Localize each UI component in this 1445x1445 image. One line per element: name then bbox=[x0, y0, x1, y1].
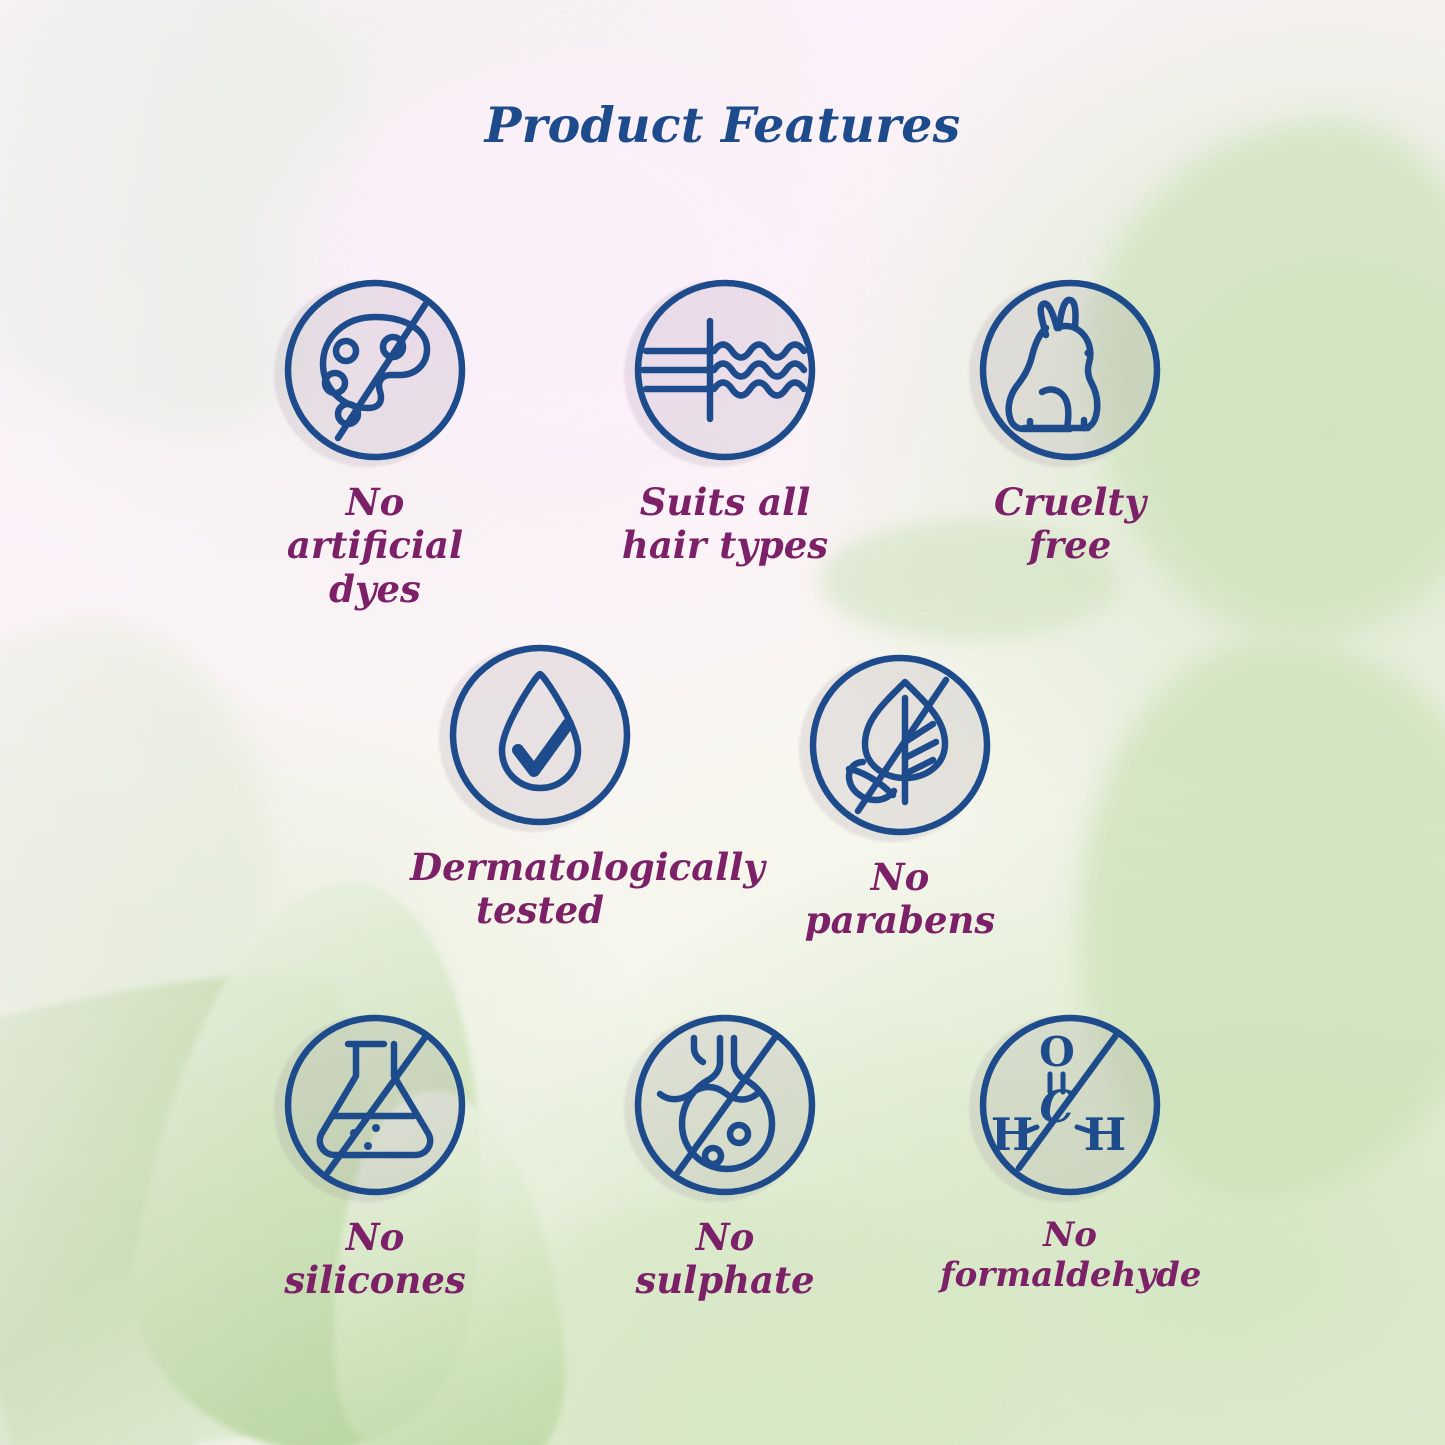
feature-caption: No artificial dyes bbox=[245, 481, 505, 611]
molecule-label-h-right: H bbox=[1084, 1108, 1127, 1161]
water-drop-check-icon bbox=[445, 640, 635, 830]
feature-caption: No formaldehyde bbox=[940, 1216, 1200, 1296]
formaldehyde-molecule-no-icon: O C H H bbox=[975, 1010, 1165, 1200]
product-features-graphic: Product Features No artificial dyes bbox=[0, 0, 1445, 1445]
feature-no-sulphate: No sulphate bbox=[595, 1010, 855, 1303]
molecule-label-c: C bbox=[1039, 1082, 1074, 1133]
feature-no-parabens: No parabens bbox=[770, 650, 1030, 943]
feature-caption: No sulphate bbox=[595, 1216, 855, 1303]
rabbit-icon bbox=[975, 275, 1165, 465]
round-flask-no-icon bbox=[630, 1010, 820, 1200]
feature-cruelty-free: Cruelty free bbox=[940, 275, 1200, 568]
hair-types-icon bbox=[630, 275, 820, 465]
feature-caption: Dermatologically tested bbox=[410, 846, 670, 933]
feature-caption: No parabens bbox=[770, 856, 1030, 943]
feature-no-silicones: No silicones bbox=[245, 1010, 505, 1303]
erlenmeyer-flask-no-icon bbox=[280, 1010, 470, 1200]
feature-caption: Cruelty free bbox=[940, 481, 1200, 568]
feature-no-formaldehyde: O C H H No formaldehyde bbox=[940, 1010, 1200, 1296]
molecule-label-o: O bbox=[1039, 1028, 1075, 1076]
paint-palette-no-icon bbox=[280, 275, 470, 465]
feature-caption: No silicones bbox=[245, 1216, 505, 1303]
feature-suits-all-hair-types: Suits all hair types bbox=[595, 275, 855, 568]
leaf-no-icon bbox=[805, 650, 995, 840]
feature-dermatologically-tested: Dermatologically tested bbox=[410, 640, 670, 933]
feature-caption: Suits all hair types bbox=[595, 481, 855, 568]
feature-no-artificial-dyes: No artificial dyes bbox=[245, 275, 505, 611]
page-title: Product Features bbox=[0, 96, 1445, 154]
